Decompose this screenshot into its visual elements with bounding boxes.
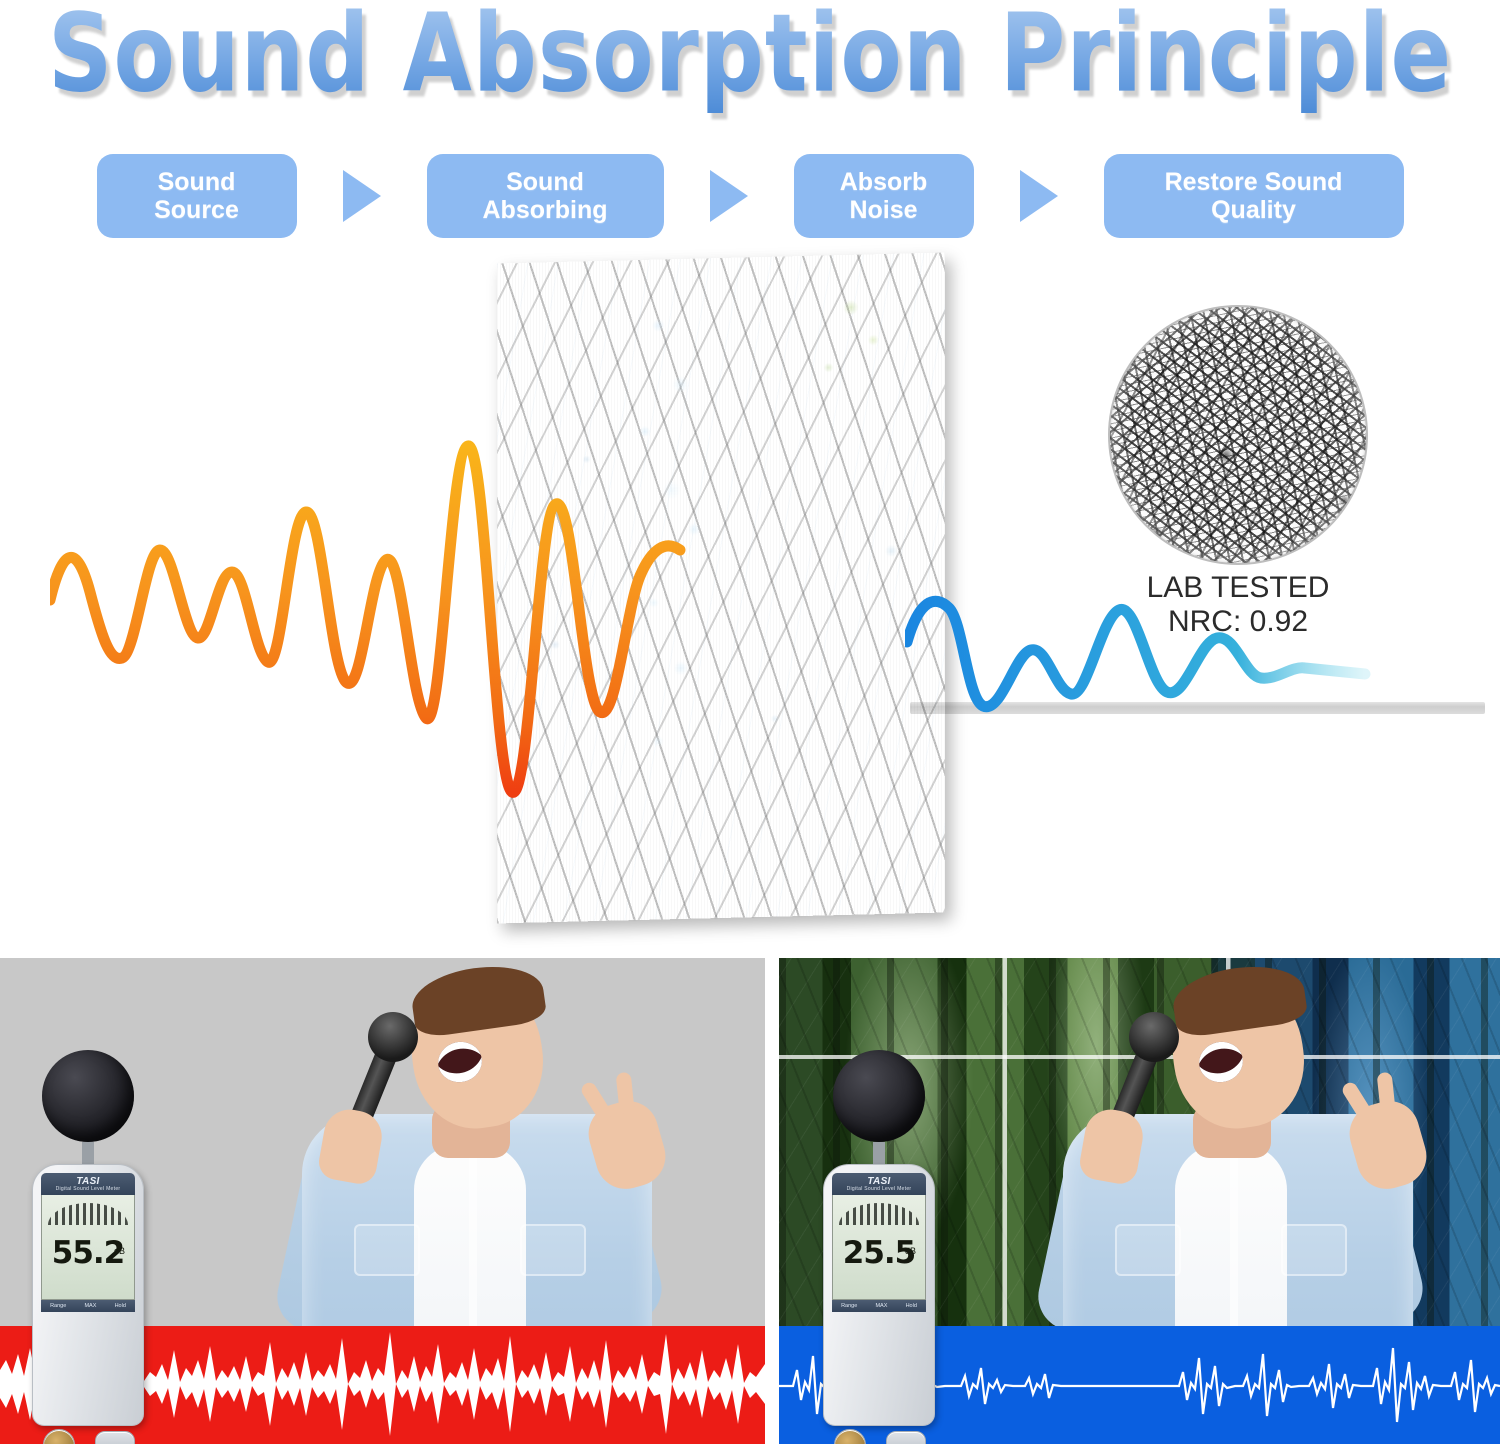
comparison-without-panel: TASI Digital Sound Level Meter 55.2 dB R… (0, 958, 765, 1444)
process-flow: Sound Source Sound Absorbing Absorb Nois… (0, 146, 1500, 246)
mode-button[interactable] (95, 1431, 135, 1444)
before-after-comparison: TASI Digital Sound Level Meter 55.2 dB R… (0, 958, 1500, 1444)
meter-key-hold: Hold (115, 1303, 126, 1309)
panel-divider (765, 958, 779, 1444)
meter-unit: dB (114, 1247, 125, 1256)
sound-level-meter-quiet: TASI Digital Sound Level Meter 25.5 dB R… (823, 1050, 935, 1426)
flow-step-line1: Restore Sound (1165, 168, 1343, 196)
flow-step-line1: Sound (506, 168, 584, 196)
meter-display: 55.2 dB (41, 1195, 135, 1300)
meter-subtitle: Digital Sound Level Meter (847, 1187, 912, 1192)
mode-button[interactable] (886, 1431, 926, 1444)
meter-display: 25.5 dB (832, 1195, 926, 1300)
meter-brand: TASI (76, 1177, 99, 1187)
flow-step-line2: Source (154, 196, 239, 224)
flow-step-restore-sound-quality: Restore Sound Quality (1104, 154, 1404, 238)
triangle-right-icon (710, 170, 748, 222)
flow-step-sound-absorbing: Sound Absorbing (427, 154, 664, 238)
windscreen-icon (833, 1050, 925, 1142)
noise-wave (50, 400, 690, 830)
meter-key-max: MAX (84, 1303, 96, 1309)
meter-key-range: Range (841, 1303, 857, 1309)
fiber-texture-swatch (1108, 305, 1368, 565)
flow-step-line2: Quality (1211, 196, 1296, 224)
power-button[interactable] (43, 1429, 75, 1444)
meter-key-max: MAX (875, 1303, 887, 1309)
flow-step-line2: Absorbing (483, 196, 608, 224)
sound-level-meter-loud: TASI Digital Sound Level Meter 55.2 dB R… (32, 1050, 144, 1426)
comparison-with-panel: TASI Digital Sound Level Meter 25.5 dB R… (779, 958, 1500, 1444)
absorption-diagram: LAB TESTED NRC: 0.92 (0, 250, 1500, 950)
power-button[interactable] (834, 1429, 866, 1444)
windscreen-icon (42, 1050, 134, 1142)
badge-line-nrc: NRC: 0.92 (1108, 605, 1368, 639)
flow-step-line2: Noise (849, 196, 917, 224)
meter-brand: TASI (867, 1177, 890, 1187)
meter-key-hold: Hold (906, 1303, 917, 1309)
meter-unit: dB (905, 1247, 916, 1256)
meter-key-range: Range (50, 1303, 66, 1309)
page-header: Sound Absorption Principle (0, 0, 1500, 108)
flow-step-absorb-noise: Absorb Noise (794, 154, 974, 238)
flow-step-sound-source: Sound Source (97, 154, 297, 238)
flow-step-line1: Sound (158, 168, 236, 196)
triangle-right-icon (1020, 170, 1058, 222)
badge-line-lab-tested: LAB TESTED (1108, 571, 1368, 605)
meter-bargraph (48, 1203, 128, 1225)
meter-bargraph (839, 1203, 919, 1225)
meter-subtitle: Digital Sound Level Meter (56, 1187, 121, 1192)
triangle-right-icon (343, 170, 381, 222)
flow-step-line1: Absorb (840, 168, 928, 196)
lab-tested-badge: LAB TESTED NRC: 0.92 (1108, 305, 1368, 605)
page-title: Sound Absorption Principle (48, 0, 1452, 117)
